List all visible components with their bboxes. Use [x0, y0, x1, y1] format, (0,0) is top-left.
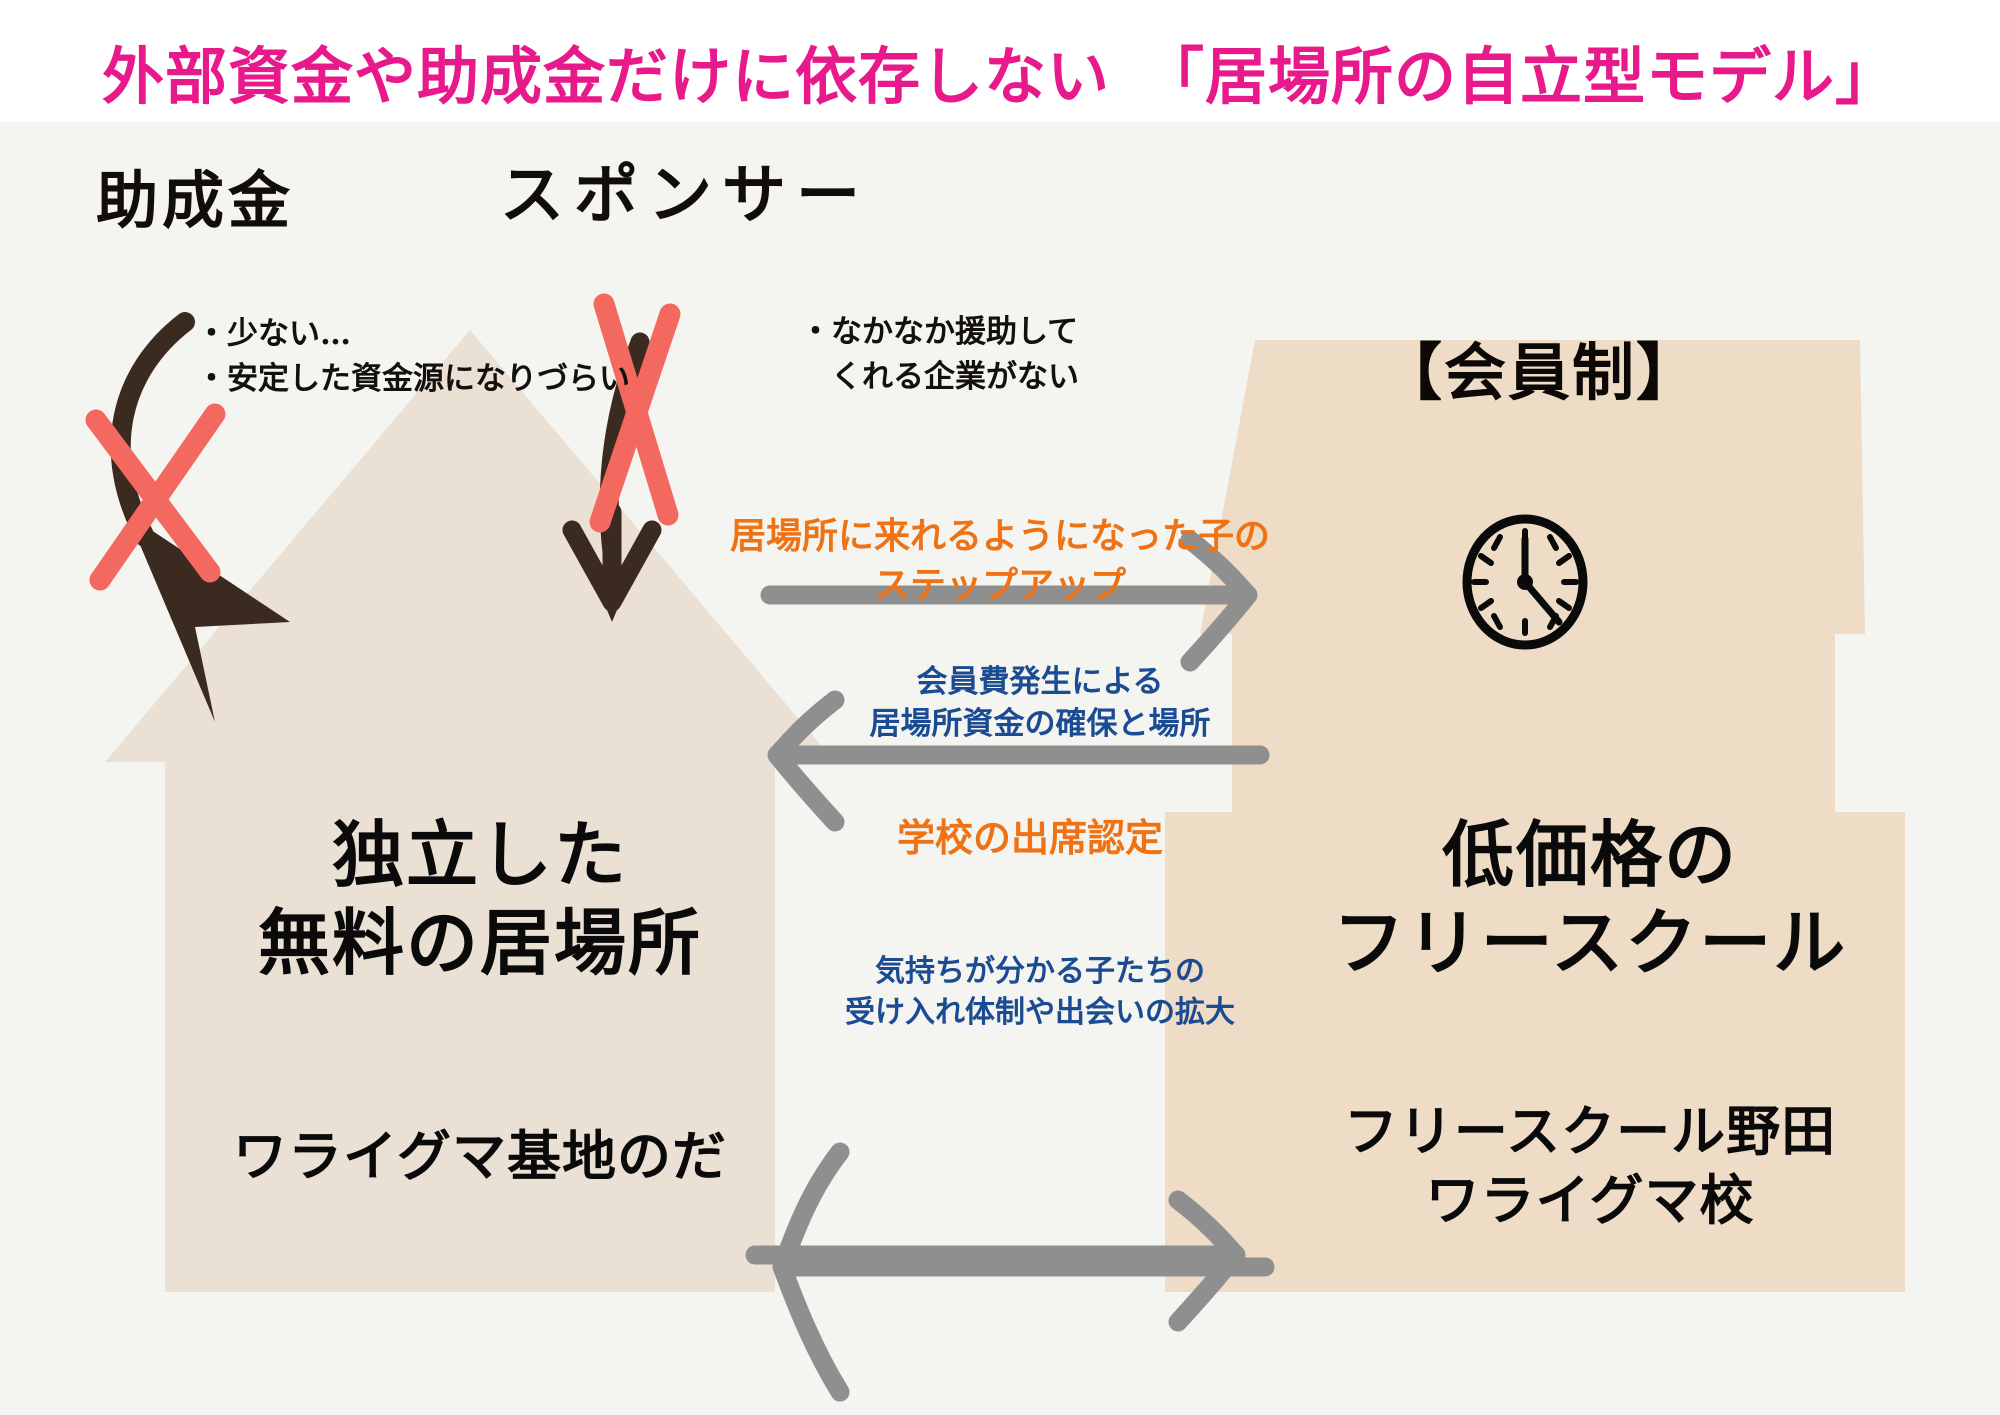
- source-notes-sponsor: ・なかなか援助して くれる企業がない: [800, 310, 1079, 400]
- page-title: 外部資金や助成金だけに依存しない 「居場所の自立型モデル」: [0, 26, 2000, 116]
- infographic-canvas: 外部資金や助成金だけに依存しない 「居場所の自立型モデル」: [0, 0, 2000, 1415]
- sponsor-note-1: ・なかなか援助して: [800, 310, 1079, 355]
- source-label-subsidy: 助成金: [96, 150, 294, 240]
- house-left-subtitle: ワライグマ基地のだ: [160, 1122, 800, 1191]
- membership-badge: 【会員制】: [1380, 322, 1700, 412]
- house-right-subtitle-line-2: ワライグマ校: [1230, 1166, 1950, 1235]
- flow-label-acceptance: 気持ちが分かる子たちの 受け入れ体制や出会いの拡大: [730, 952, 1350, 1033]
- house-right-title-line-1: 低価格の: [1240, 812, 1940, 900]
- house-right-subtitle-line-1: フリースクール野田: [1230, 1097, 1950, 1166]
- source-label-sponsor: スポンサー: [500, 144, 870, 236]
- house-left-subtitle-line-1: ワライグマ基地のだ: [160, 1122, 800, 1191]
- flow-membership-fee-line-2: 居場所資金の確保と場所: [740, 704, 1340, 746]
- title-band: 外部資金や助成金だけに依存しない 「居場所の自立型モデル」: [0, 0, 2000, 122]
- flow-label-membership-fee: 会員費発生による 居場所資金の確保と場所: [740, 662, 1340, 746]
- sponsor-note-2: くれる企業がない: [800, 355, 1079, 400]
- house-left-title: 独立した 無料の居場所: [170, 812, 790, 988]
- flow-membership-fee-line-1: 会員費発生による: [740, 662, 1340, 704]
- diagram-area: 助成金 ・少ない… ・安定した資金源になりづらい スポンサー ・なかなか援助して…: [0, 122, 2000, 1415]
- flow-step-up-line-2: ステップアップ: [660, 561, 1340, 610]
- flow-acceptance-line-2: 受け入れ体制や出会いの拡大: [730, 993, 1350, 1034]
- clock-icon: [1467, 519, 1583, 645]
- flow-step-up-line-1: 居場所に来れるようになった子の: [660, 512, 1340, 561]
- source-notes-subsidy: ・少ない… ・安定した資金源になりづらい: [196, 312, 630, 402]
- subsidy-note-2: ・安定した資金源になりづらい: [196, 357, 630, 402]
- house-left-title-line-2: 無料の居場所: [170, 900, 790, 988]
- flow-attendance-line-1: 学校の出席認定: [720, 812, 1340, 863]
- house-right-subtitle: フリースクール野田 ワライグマ校: [1230, 1097, 1950, 1235]
- flow-acceptance-line-1: 気持ちが分かる子たちの: [730, 952, 1350, 993]
- flow-label-step-up: 居場所に来れるようになった子の ステップアップ: [660, 512, 1340, 609]
- subsidy-note-1: ・少ない…: [196, 312, 630, 357]
- flow-label-attendance: 学校の出席認定: [720, 812, 1340, 863]
- house-left-title-line-1: 独立した: [170, 812, 790, 900]
